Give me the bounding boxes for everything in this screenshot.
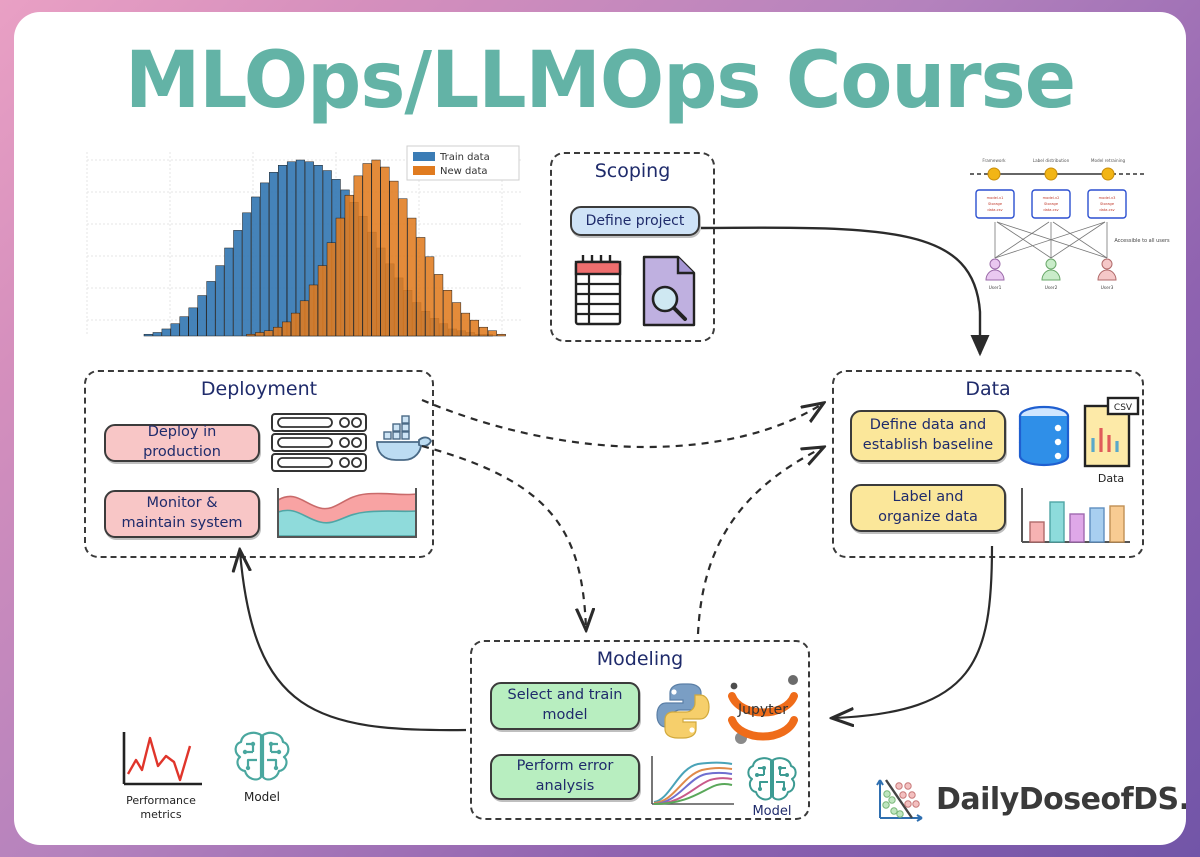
legend-label-new: New data — [440, 166, 488, 177]
area-chart-icon — [274, 478, 420, 542]
histogram-bar — [461, 313, 470, 336]
histogram-bar — [354, 176, 363, 336]
jupyter-logo-icon: Jupyter — [722, 672, 804, 750]
histogram-bar — [242, 213, 251, 336]
modeling-model-caption: Model — [744, 804, 800, 819]
python-logo-icon — [652, 680, 714, 742]
database-icon — [1016, 404, 1072, 472]
stage-title-scoping: Scoping — [552, 160, 713, 182]
histogram-bar — [207, 281, 216, 336]
line-chart-icon — [648, 754, 736, 810]
timeline-label-1: Label distribution — [1033, 158, 1070, 163]
histogram-bar — [443, 290, 452, 336]
histogram-bar — [144, 334, 153, 336]
histogram-bar — [327, 243, 336, 336]
histogram-bar — [189, 308, 198, 336]
performance-metrics-icon — [118, 730, 204, 792]
legend-swatch-train — [413, 152, 435, 161]
csv-file-icon: CSV — [1082, 394, 1140, 472]
notepad-icon — [572, 252, 624, 328]
versioning-note: Accessible to all users — [1114, 238, 1170, 244]
stage-scoping[interactable]: Scoping Define project — [550, 152, 715, 342]
histogram-bar — [345, 195, 354, 336]
svg-text:data.csv: data.csv — [987, 208, 1003, 212]
card-define-project[interactable]: Define project — [570, 206, 700, 236]
histogram-bar — [251, 197, 260, 336]
histogram-bar — [162, 329, 171, 336]
histogram-bar — [497, 334, 506, 336]
arrow-data-to-modeling — [834, 546, 992, 718]
docker-whale-icon — [374, 414, 432, 470]
timeline-label-0: Framework — [982, 158, 1006, 163]
histogram-bar — [434, 274, 443, 336]
svg-text:data.csv: data.csv — [1099, 208, 1115, 212]
histogram-bars — [144, 160, 506, 336]
jupyter-label: Jupyter — [737, 702, 788, 718]
histogram-bar — [171, 324, 180, 336]
document-search-icon — [640, 254, 698, 328]
histogram-bar — [273, 327, 282, 336]
card-label-organize[interactable]: Label and organize data — [850, 484, 1006, 532]
card-monitor-maintain[interactable]: Monitor & maintain system — [104, 490, 260, 538]
svg-text:model.v3: model.v3 — [1099, 196, 1116, 200]
histogram-bar — [390, 181, 399, 336]
histogram-bar — [269, 172, 278, 336]
stage-title-deployment: Deployment — [86, 378, 432, 400]
versioning-diagram: Framework Label distribution Model retra… — [966, 152, 1156, 292]
svg-text:Storage: Storage — [988, 202, 1003, 206]
scatter-plot-icon — [872, 774, 926, 824]
performance-metrics-item: Performance metrics — [118, 730, 218, 823]
server-rack-icon — [270, 412, 368, 474]
performance-metrics-label: Performance metrics — [118, 794, 204, 823]
histogram-bar — [246, 334, 255, 336]
user-figures — [986, 259, 1116, 280]
stage-data[interactable]: Data Define data and establish baseline … — [832, 370, 1144, 558]
histogram-bar — [291, 313, 300, 336]
card-select-train-model[interactable]: Select and train model — [490, 682, 640, 730]
poster-canvas: MLOps/LLMOps Course Train data New data — [14, 12, 1186, 845]
stage-modeling[interactable]: Modeling Select and train model Perform … — [470, 640, 810, 820]
histogram-bar — [234, 230, 243, 336]
histogram-bar — [470, 320, 479, 336]
brain-model-footnote-icon — [230, 728, 294, 788]
svg-text:data.csv: data.csv — [1043, 208, 1059, 212]
histogram-bar — [278, 165, 287, 336]
histogram-bar — [180, 317, 189, 336]
histogram-bar — [309, 285, 318, 336]
model-footnote-label: Model — [230, 790, 294, 804]
svg-text:Storage: Storage — [1100, 202, 1115, 206]
histogram-bar — [399, 199, 408, 336]
svg-text:model.v2: model.v2 — [1043, 196, 1060, 200]
arrow-deployment-to-data — [422, 400, 822, 447]
histogram-bar — [336, 218, 345, 336]
arrow-modeling-to-deployment — [240, 552, 466, 730]
histogram-bar — [363, 164, 372, 336]
histogram-bar — [408, 218, 417, 336]
histogram-bar — [225, 248, 234, 336]
csv-label: CSV — [1114, 403, 1133, 413]
histogram-bar — [300, 301, 309, 336]
card-deploy-production[interactable]: Deploy in production — [104, 424, 260, 462]
page-title: MLOps/LLMOps Course — [32, 36, 1169, 126]
user-label-2: User3 — [1101, 285, 1114, 291]
card-define-data[interactable]: Define data and establish baseline — [850, 410, 1006, 462]
arrow-deployment-to-modeling — [422, 446, 586, 628]
branding-text: DailyDoseofDS.com — [936, 782, 1186, 817]
brain-model-icon — [744, 754, 800, 806]
histogram-bar — [381, 167, 390, 336]
legend-swatch-new — [413, 166, 435, 175]
histogram-bar — [260, 183, 269, 336]
histogram-bar — [282, 322, 291, 336]
histogram-bar — [287, 162, 296, 336]
chart-legend: Train data New data — [407, 146, 519, 180]
histogram-bar — [372, 160, 381, 336]
histogram-bar — [264, 331, 273, 336]
histogram-bar — [417, 237, 426, 336]
histogram-bar — [216, 266, 225, 336]
arrow-scoping-to-data — [701, 228, 980, 354]
histogram-svg: Train data New data — [72, 144, 522, 352]
svg-text:Storage: Storage — [1044, 202, 1059, 206]
arrow-modeling-to-data — [698, 448, 822, 634]
branding-logo[interactable]: DailyDoseofDS.com — [872, 774, 1186, 824]
user-label-0: User1 — [989, 285, 1002, 291]
histogram-bar — [425, 257, 434, 336]
user-label-1: User2 — [1045, 285, 1058, 291]
histogram-bar — [488, 331, 497, 336]
stage-deployment[interactable]: Deployment Deploy in production Monitor … — [84, 370, 434, 558]
histogram-bar — [198, 296, 207, 336]
card-perform-error-analysis[interactable]: Perform error analysis — [490, 754, 640, 800]
legend-label-train: Train data — [439, 152, 490, 163]
bar-chart-icon — [1016, 484, 1134, 550]
histogram-bar — [255, 332, 264, 336]
histogram-bar — [452, 303, 461, 336]
model-footnote-item: Model — [230, 728, 310, 804]
svg-text:model.v1: model.v1 — [987, 196, 1004, 200]
histogram-bar — [318, 266, 327, 336]
histogram-bar — [479, 327, 488, 336]
stage-title-modeling: Modeling — [472, 648, 808, 670]
timeline-label-2: Model retraining — [1091, 158, 1126, 163]
histogram-bar — [153, 332, 162, 336]
histogram-chart: Train data New data — [72, 144, 522, 352]
